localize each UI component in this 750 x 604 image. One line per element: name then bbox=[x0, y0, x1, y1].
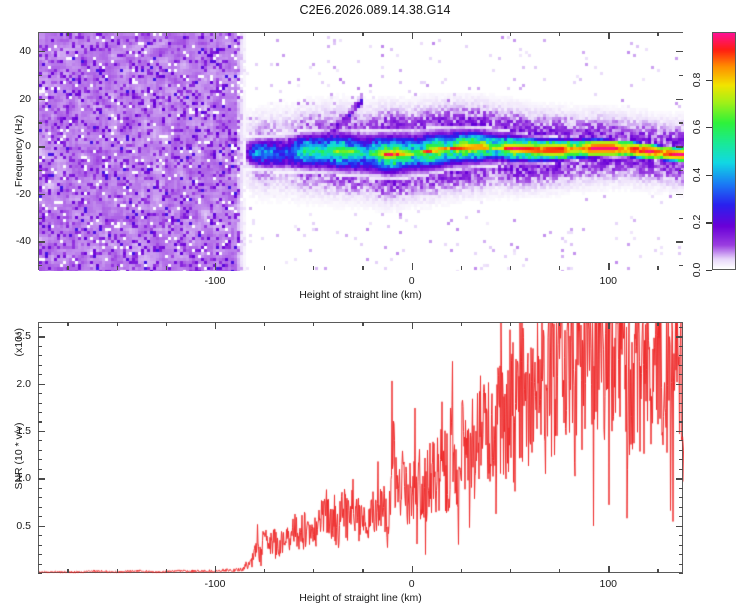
major-ytick bbox=[38, 526, 45, 527]
major-ytick bbox=[676, 526, 683, 527]
minor-ytick bbox=[38, 488, 42, 489]
minor-ytick bbox=[679, 393, 683, 394]
minor-ytick bbox=[38, 497, 42, 498]
minor-ytick bbox=[38, 327, 42, 328]
minor-ytick bbox=[679, 346, 683, 347]
minor-xtick bbox=[559, 266, 560, 270]
snr-xlabel: Height of straight line (km) bbox=[299, 592, 422, 604]
major-xtick bbox=[412, 32, 413, 39]
ytick-label: -40 bbox=[0, 235, 35, 247]
major-ytick bbox=[676, 336, 683, 337]
minor-ytick bbox=[38, 122, 42, 123]
minor-xtick bbox=[166, 266, 167, 270]
snr-panel bbox=[38, 322, 683, 573]
spectrogram-xlabel: Height of straight line (km) bbox=[299, 289, 422, 301]
minor-xtick bbox=[362, 32, 363, 36]
major-xtick bbox=[412, 566, 413, 573]
minor-ytick bbox=[38, 554, 42, 555]
minor-xtick bbox=[313, 322, 314, 326]
minor-xtick bbox=[510, 266, 511, 270]
major-ytick bbox=[38, 194, 45, 195]
minor-ytick bbox=[38, 393, 42, 394]
snr-exponent-label: (x10⁴) bbox=[13, 328, 25, 356]
minor-ytick bbox=[679, 459, 683, 460]
ytick-label: 2.0 bbox=[0, 378, 35, 390]
minor-ytick bbox=[38, 403, 42, 404]
minor-xtick bbox=[166, 32, 167, 36]
major-ytick bbox=[38, 99, 45, 100]
minor-xtick bbox=[313, 32, 314, 36]
minor-xtick bbox=[461, 569, 462, 573]
minor-ytick bbox=[38, 218, 42, 219]
minor-xtick bbox=[117, 266, 118, 270]
snr-trace bbox=[39, 323, 684, 574]
minor-ytick bbox=[679, 365, 683, 366]
major-xtick bbox=[608, 322, 609, 329]
minor-xtick bbox=[559, 569, 560, 573]
spectrogram-panel bbox=[38, 32, 683, 270]
minor-xtick bbox=[510, 569, 511, 573]
figure-title: C2E6.2026.089.14.38.G14 bbox=[0, 3, 750, 17]
minor-ytick bbox=[38, 355, 42, 356]
minor-ytick bbox=[38, 573, 42, 574]
xtick-label: -100 bbox=[204, 578, 225, 590]
minor-ytick bbox=[38, 440, 42, 441]
minor-xtick bbox=[510, 322, 511, 326]
ytick-label: 40 bbox=[0, 45, 35, 57]
major-ytick bbox=[38, 478, 45, 479]
minor-xtick bbox=[264, 32, 265, 36]
ytick-label: 20 bbox=[0, 93, 35, 105]
minor-ytick bbox=[679, 440, 683, 441]
colorbar-tick-label: 0.4 bbox=[691, 167, 703, 182]
minor-ytick bbox=[38, 535, 42, 536]
figure-root: C2E6.2026.089.14.38.G14 -1000100-40-2002… bbox=[0, 0, 750, 600]
minor-ytick bbox=[38, 450, 42, 451]
minor-xtick bbox=[461, 266, 462, 270]
minor-xtick bbox=[362, 266, 363, 270]
minor-xtick bbox=[657, 322, 658, 326]
minor-xtick bbox=[117, 322, 118, 326]
minor-xtick bbox=[67, 32, 68, 36]
colorbar-tick bbox=[706, 80, 712, 81]
minor-xtick bbox=[559, 322, 560, 326]
major-xtick bbox=[608, 263, 609, 270]
minor-ytick bbox=[679, 412, 683, 413]
minor-xtick bbox=[313, 569, 314, 573]
minor-ytick bbox=[679, 450, 683, 451]
minor-ytick bbox=[38, 374, 42, 375]
major-xtick bbox=[608, 566, 609, 573]
minor-ytick bbox=[38, 564, 42, 565]
colorbar-tick bbox=[706, 127, 712, 128]
xtick-label: 0 bbox=[409, 578, 415, 590]
minor-xtick bbox=[657, 266, 658, 270]
minor-ytick bbox=[679, 469, 683, 470]
major-ytick bbox=[676, 51, 683, 52]
major-ytick bbox=[676, 194, 683, 195]
minor-ytick bbox=[679, 374, 683, 375]
minor-ytick bbox=[679, 327, 683, 328]
minor-ytick bbox=[38, 516, 42, 517]
xtick-label: 100 bbox=[600, 578, 618, 590]
minor-ytick bbox=[679, 554, 683, 555]
minor-xtick bbox=[362, 322, 363, 326]
colorbar-tick bbox=[706, 270, 712, 271]
minor-ytick bbox=[679, 218, 683, 219]
minor-xtick bbox=[67, 569, 68, 573]
major-ytick bbox=[676, 99, 683, 100]
minor-xtick bbox=[67, 266, 68, 270]
minor-ytick bbox=[679, 355, 683, 356]
minor-ytick bbox=[679, 265, 683, 266]
minor-ytick bbox=[38, 469, 42, 470]
major-xtick bbox=[215, 322, 216, 329]
spectrogram-image bbox=[39, 33, 684, 271]
minor-ytick bbox=[38, 421, 42, 422]
minor-ytick bbox=[679, 535, 683, 536]
minor-xtick bbox=[264, 266, 265, 270]
ytick-label: -20 bbox=[0, 188, 35, 200]
major-xtick bbox=[412, 263, 413, 270]
minor-ytick bbox=[679, 170, 683, 171]
minor-ytick bbox=[38, 170, 42, 171]
major-xtick bbox=[215, 263, 216, 270]
minor-xtick bbox=[117, 32, 118, 36]
colorbar-tick-label: 0.6 bbox=[691, 120, 703, 135]
colorbar-tick-label: 0.2 bbox=[691, 215, 703, 230]
minor-xtick bbox=[166, 322, 167, 326]
minor-xtick bbox=[510, 32, 511, 36]
major-ytick bbox=[38, 336, 45, 337]
colorbar-gradient bbox=[712, 32, 736, 270]
minor-ytick bbox=[38, 412, 42, 413]
minor-ytick bbox=[38, 365, 42, 366]
major-ytick bbox=[676, 431, 683, 432]
minor-ytick bbox=[679, 122, 683, 123]
minor-ytick bbox=[38, 75, 42, 76]
colorbar bbox=[712, 32, 736, 270]
major-ytick bbox=[38, 51, 45, 52]
minor-ytick bbox=[679, 75, 683, 76]
minor-xtick bbox=[264, 322, 265, 326]
minor-xtick bbox=[166, 569, 167, 573]
colorbar-tick-label: 0.8 bbox=[691, 72, 703, 87]
major-ytick bbox=[38, 146, 45, 147]
minor-xtick bbox=[657, 569, 658, 573]
colorbar-tick bbox=[706, 222, 712, 223]
spectrogram-ylabel: Frequency (Hz) bbox=[13, 115, 25, 187]
snr-ylabel: SNR (10 * v/v) bbox=[13, 422, 25, 489]
minor-ytick bbox=[679, 507, 683, 508]
major-xtick bbox=[215, 566, 216, 573]
minor-ytick bbox=[679, 488, 683, 489]
major-xtick bbox=[608, 32, 609, 39]
xtick-label: 0 bbox=[409, 275, 415, 287]
ytick-label: 0.5 bbox=[0, 520, 35, 532]
minor-ytick bbox=[679, 497, 683, 498]
colorbar-tick bbox=[706, 175, 712, 176]
minor-xtick bbox=[362, 569, 363, 573]
xtick-label: -100 bbox=[204, 275, 225, 287]
major-ytick bbox=[676, 478, 683, 479]
minor-ytick bbox=[38, 265, 42, 266]
minor-ytick bbox=[679, 516, 683, 517]
minor-xtick bbox=[264, 569, 265, 573]
minor-xtick bbox=[313, 266, 314, 270]
minor-ytick bbox=[38, 459, 42, 460]
minor-xtick bbox=[117, 569, 118, 573]
minor-ytick bbox=[38, 545, 42, 546]
minor-ytick bbox=[679, 564, 683, 565]
major-ytick bbox=[676, 384, 683, 385]
major-xtick bbox=[412, 322, 413, 329]
major-xtick bbox=[215, 32, 216, 39]
minor-ytick bbox=[679, 421, 683, 422]
minor-xtick bbox=[559, 32, 560, 36]
major-ytick bbox=[38, 384, 45, 385]
major-ytick bbox=[38, 241, 45, 242]
minor-ytick bbox=[38, 507, 42, 508]
xtick-label: 100 bbox=[600, 275, 618, 287]
colorbar-tick-label: 0.0 bbox=[691, 263, 703, 278]
minor-xtick bbox=[461, 322, 462, 326]
minor-xtick bbox=[461, 32, 462, 36]
minor-ytick bbox=[38, 346, 42, 347]
major-ytick bbox=[38, 431, 45, 432]
minor-ytick bbox=[679, 403, 683, 404]
minor-xtick bbox=[657, 32, 658, 36]
major-ytick bbox=[676, 146, 683, 147]
minor-ytick bbox=[679, 573, 683, 574]
minor-ytick bbox=[679, 545, 683, 546]
major-ytick bbox=[676, 241, 683, 242]
minor-xtick bbox=[67, 322, 68, 326]
